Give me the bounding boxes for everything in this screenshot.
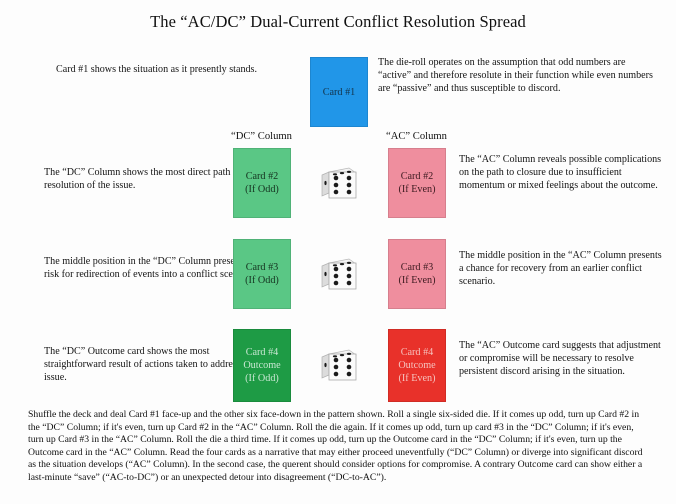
card-ac-2-title: Card #2 [401, 170, 434, 183]
note-dc-row3: The middle position in the “DC” Column p… [44, 255, 262, 281]
die-icon-roll-3 [320, 345, 358, 383]
card-dc-4-title: Card #4 [246, 346, 279, 359]
card-dc-3-condition: (If Odd) [245, 274, 279, 287]
note-ac-row3: The middle position in the “AC” Column p… [459, 249, 667, 289]
card-dc-4-outcome[interactable]: Card #4 Outcome (If Odd) [233, 329, 291, 402]
instructions-paragraph: Shuffle the deck and deal Card #1 face-u… [28, 409, 650, 485]
note-ac-row4: The “AC” Outcome card suggests that adju… [459, 339, 669, 379]
note-dc-row2: The “DC” Column shows the most direct pa… [44, 166, 259, 192]
dc-column-header: “DC” Column [231, 131, 292, 142]
card-dc-4-subtitle: Outcome [243, 359, 280, 372]
note-ac-row2: The “AC” Column reveals possible complic… [459, 153, 667, 193]
card-ac-4-title: Card #4 [401, 346, 434, 359]
note-dc-row4: The “DC” Outcome card shows the most str… [44, 345, 262, 385]
card-dc-2-condition: (If Odd) [245, 183, 279, 196]
card-1-label: Card #1 [323, 86, 356, 99]
page-title: The “AC/DC” Dual-Current Conflict Resolu… [0, 12, 676, 32]
card-dc-3-title: Card #3 [246, 261, 279, 274]
ac-column-header: “AC” Column [386, 131, 447, 142]
note-card1: Card #1 shows the situation as it presen… [56, 63, 306, 76]
card-ac-4-condition: (If Even) [398, 372, 435, 385]
card-ac-2-condition: (If Even) [398, 183, 435, 196]
card-dc-2-title: Card #2 [246, 170, 279, 183]
card-ac-3-title: Card #3 [401, 261, 434, 274]
die-icon-roll-2 [320, 254, 358, 292]
card-ac-4-outcome[interactable]: Card #4 Outcome (If Even) [388, 329, 446, 402]
die-icon-roll-1 [320, 163, 358, 201]
card-dc-3[interactable]: Card #3 (If Odd) [233, 239, 291, 309]
card-ac-3-condition: (If Even) [398, 274, 435, 287]
card-ac-3[interactable]: Card #3 (If Even) [388, 239, 446, 309]
card-dc-4-condition: (If Odd) [245, 372, 279, 385]
note-die-roll: The die-roll operates on the assumption … [378, 56, 653, 96]
card-dc-2[interactable]: Card #2 (If Odd) [233, 148, 291, 218]
card-ac-2[interactable]: Card #2 (If Even) [388, 148, 446, 218]
spread-diagram-sheet: The “AC/DC” Dual-Current Conflict Resolu… [0, 0, 676, 504]
card-1[interactable]: Card #1 [310, 57, 368, 127]
card-ac-4-subtitle: Outcome [398, 359, 435, 372]
